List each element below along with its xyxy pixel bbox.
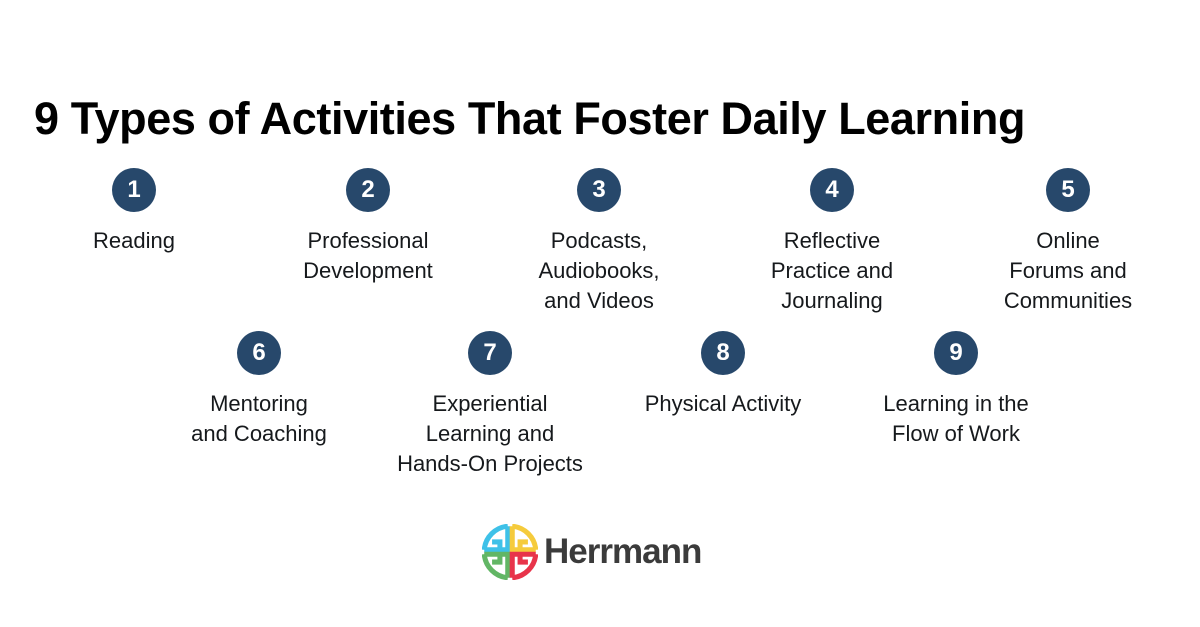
activity-badge-6: 6	[237, 331, 281, 375]
activity-badge-2: 2	[346, 168, 390, 212]
herrmann-logo-icon	[482, 524, 538, 580]
activity-badge-7: 7	[468, 331, 512, 375]
activity-item-8: 8 Physical Activity	[608, 331, 838, 419]
activity-item-7: 7 Experiential Learning and Hands-On Pro…	[375, 331, 605, 479]
activity-item-2: 2 Professional Development	[253, 168, 483, 286]
activity-item-9: 9 Learning in the Flow of Work	[841, 331, 1071, 449]
activity-label-8: Physical Activity	[645, 389, 802, 419]
brand-wordmark: Herrmann	[544, 532, 701, 572]
activity-badge-9: 9	[934, 331, 978, 375]
infographic-canvas: 9 Types of Activities That Foster Daily …	[0, 0, 1200, 627]
activity-label-3: Podcasts, Audiobooks, and Videos	[538, 226, 659, 316]
activity-label-6: Mentoring and Coaching	[191, 389, 327, 449]
activity-item-6: 6 Mentoring and Coaching	[144, 331, 374, 449]
activity-label-7: Experiential Learning and Hands-On Proje…	[397, 389, 583, 479]
activity-badge-8: 8	[701, 331, 745, 375]
activity-item-5: 5 Online Forums and Communities	[953, 168, 1183, 316]
brand-logo: Herrmann	[482, 524, 701, 580]
activity-label-9: Learning in the Flow of Work	[883, 389, 1029, 449]
activity-item-1: 1 Reading	[19, 168, 249, 256]
activity-item-3: 3 Podcasts, Audiobooks, and Videos	[484, 168, 714, 316]
activity-label-5: Online Forums and Communities	[1004, 226, 1132, 316]
activity-item-4: 4 Reflective Practice and Journaling	[717, 168, 947, 316]
activity-label-1: Reading	[93, 226, 175, 256]
activity-label-2: Professional Development	[303, 226, 433, 286]
activity-badge-5: 5	[1046, 168, 1090, 212]
activity-badge-4: 4	[810, 168, 854, 212]
activity-badge-1: 1	[112, 168, 156, 212]
activity-badge-3: 3	[577, 168, 621, 212]
activity-label-4: Reflective Practice and Journaling	[771, 226, 893, 316]
page-title: 9 Types of Activities That Foster Daily …	[34, 92, 1174, 146]
